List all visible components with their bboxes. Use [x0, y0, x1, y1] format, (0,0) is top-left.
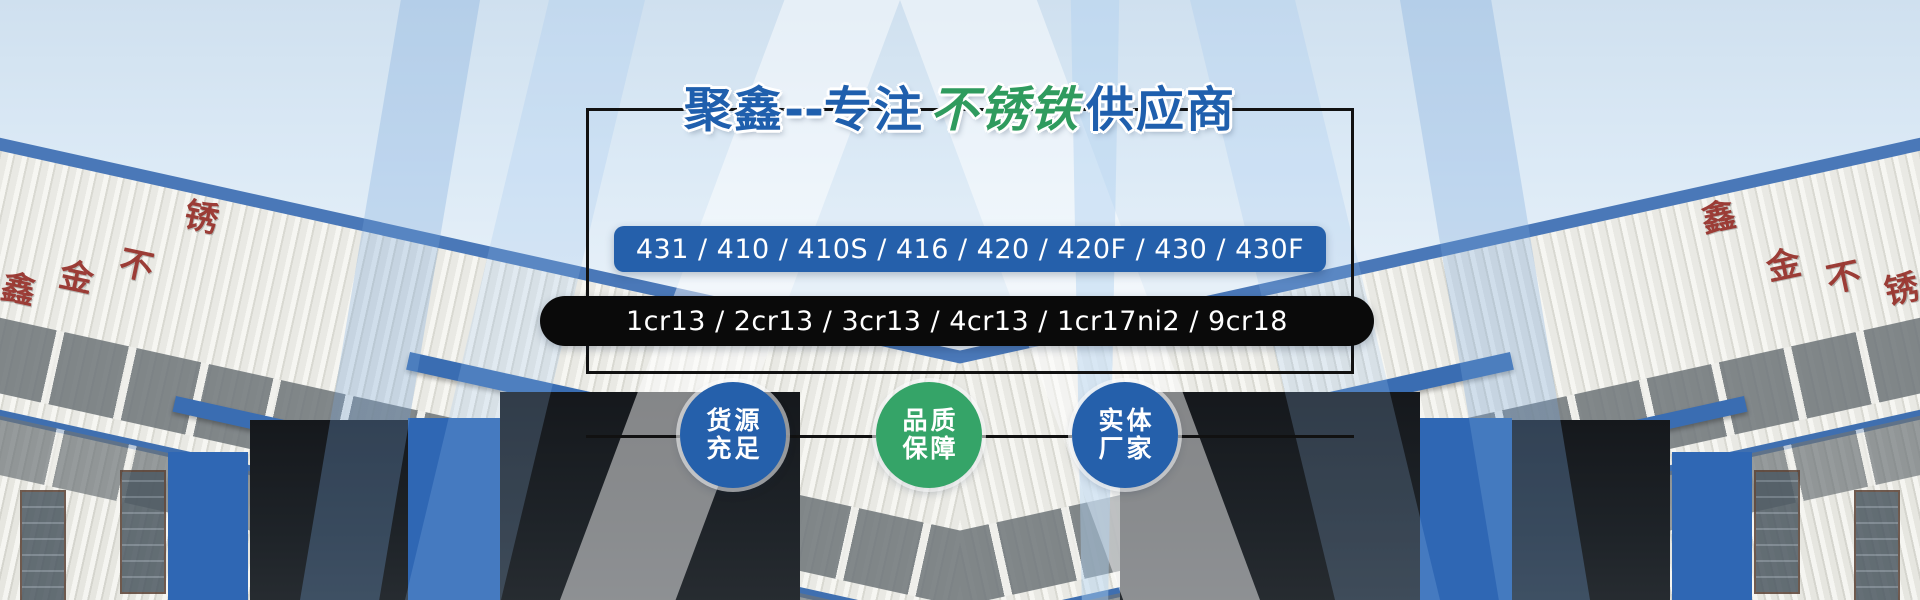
badge-supply-line1: 货源 — [703, 407, 762, 435]
hero-banner: 鑫 金 不 锈 锈 不 金 鑫 — [0, 0, 1920, 600]
badge-factory-line2: 厂家 — [1095, 435, 1154, 463]
badge-quality: 品质 保障 — [876, 382, 982, 488]
headline-focus: 专注 — [824, 82, 924, 138]
headline-dash: -- — [784, 82, 824, 138]
headline-brand: 聚鑫 — [684, 82, 784, 138]
grade-bar-secondary: 1cr13 / 2cr13 / 3cr13 / 4cr13 / 1cr17ni2… — [540, 296, 1374, 346]
badge-supply: 货源 充足 — [680, 382, 786, 488]
badge-supply-line2: 充足 — [703, 435, 762, 463]
headline: 聚鑫--专注不锈铁供应商 — [0, 86, 1920, 134]
badge-quality-line1: 品质 — [899, 407, 958, 435]
grade-bar-primary: 431 / 410 / 410S / 416 / 420 / 420F / 43… — [614, 226, 1326, 272]
headline-supplier: 供应商 — [1086, 82, 1236, 138]
badge-factory: 实体 厂家 — [1072, 382, 1178, 488]
badge-connector-left — [586, 435, 680, 438]
feature-badges: 货源 充足 品质 保障 实体 厂家 — [0, 382, 1920, 488]
badge-connector-right — [982, 435, 1072, 438]
badge-connector-middle — [786, 435, 876, 438]
headline-highlight: 不锈铁 — [924, 82, 1086, 138]
badge-quality-line2: 保障 — [899, 435, 958, 463]
badge-factory-line1: 实体 — [1095, 407, 1154, 435]
banner-content: 聚鑫--专注不锈铁供应商 431 / 410 / 410S / 416 / 42… — [0, 0, 1920, 600]
badge-connector-end — [1178, 435, 1354, 438]
